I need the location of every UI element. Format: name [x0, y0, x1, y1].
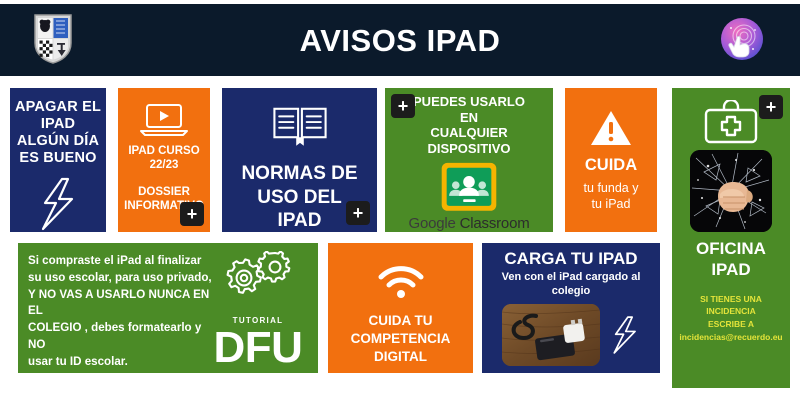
tile-dfu-tutorial[interactable]: Si compraste el iPad al finalizar su uso… — [18, 243, 318, 373]
tile-cuida-funda[interactable]: CUIDA tu funda y tu iPad — [565, 88, 657, 232]
google-classroom-icon — [435, 162, 503, 212]
tile-apagar-text: APAGAR EL IPAD ALGÚN DÍA ES BUENO — [15, 99, 101, 167]
tile-competencia-digital[interactable]: CUIDA TU COMPETENCIA DIGITAL — [328, 243, 473, 373]
plus-badge-normas[interactable]: + — [346, 201, 370, 225]
tile-cuida-sub: tu funda y tu iPad — [584, 180, 639, 213]
tile-normas-de-uso[interactable]: NORMAS DE USO DEL IPAD + — [222, 88, 377, 232]
broken-screen-fist-photo — [690, 150, 772, 232]
lightning-bolt-icon — [37, 177, 79, 231]
tile-carga-sub: Ven con el iPad cargado al colegio — [496, 271, 646, 299]
wifi-icon — [377, 265, 425, 299]
charger-cable-photo — [502, 304, 600, 366]
page-header: AVISOS IPAD — [0, 4, 800, 76]
tile-google-classroom[interactable]: + PUEDES USARLO EN CUALQUIER DISPOSITIVO… — [385, 88, 553, 232]
warning-triangle-icon — [590, 110, 632, 147]
tile-dossier-course: IPAD CURSO 22/23 — [128, 144, 199, 173]
tile-cuida-title: CUIDA — [585, 156, 637, 175]
tile-apagar-ipad[interactable]: APAGAR EL IPAD ALGÚN DÍA ES BUENO — [10, 88, 106, 232]
tile-normas-text: NORMAS DE USO DEL IPAD — [241, 162, 357, 232]
plus-badge-dossier[interactable]: + — [180, 202, 204, 226]
tile-carga-media — [502, 304, 640, 366]
tile-dossier-informativo[interactable]: IPAD CURSO 22/23 DOSSIER INFORMATIVO + — [118, 88, 210, 232]
classroom-brand-label: Google Classroom — [408, 215, 529, 232]
page-title: AVISOS IPAD — [300, 25, 501, 56]
tile-dfu-text: Si compraste el iPad al finalizar su uso… — [28, 253, 213, 373]
open-book-icon — [269, 105, 331, 150]
gears-settings-icon — [215, 251, 301, 309]
tile-oficina-title: OFICINA IPAD — [696, 238, 766, 281]
tile-dfu-right: TUTORIAL DFU — [204, 251, 312, 369]
tile-wifi-text: CUIDA TU COMPETENCIA DIGITAL — [351, 312, 451, 367]
tile-dfu-label: DFU — [204, 327, 312, 369]
tile-oficina-ipad[interactable]: + — [672, 88, 790, 388]
plus-badge-oficina[interactable]: + — [759, 95, 783, 119]
avisos-ipad-board: AVISOS IPAD APAGAR EL IPAD — [0, 0, 800, 400]
tile-classroom-text: PUEDES USARLO EN CUALQUIER DISPOSITIVO — [407, 94, 532, 156]
tile-oficina-contact: SI TIENES UNA INCIDENCIA ESCRIBE A incid… — [675, 293, 787, 344]
tile-carga-tu-ipad[interactable]: CARGA TU IPAD Ven con el iPad cargado al… — [482, 243, 660, 373]
school-crest-icon — [33, 13, 73, 65]
first-aid-kit-icon — [701, 100, 761, 146]
touch-gesture-icon — [717, 14, 767, 64]
tile-carga-title: CARGA TU IPAD — [504, 249, 637, 269]
plus-badge-classroom[interactable]: + — [391, 94, 415, 118]
lightning-bolt-icon — [610, 314, 640, 356]
laptop-video-icon — [139, 102, 189, 138]
